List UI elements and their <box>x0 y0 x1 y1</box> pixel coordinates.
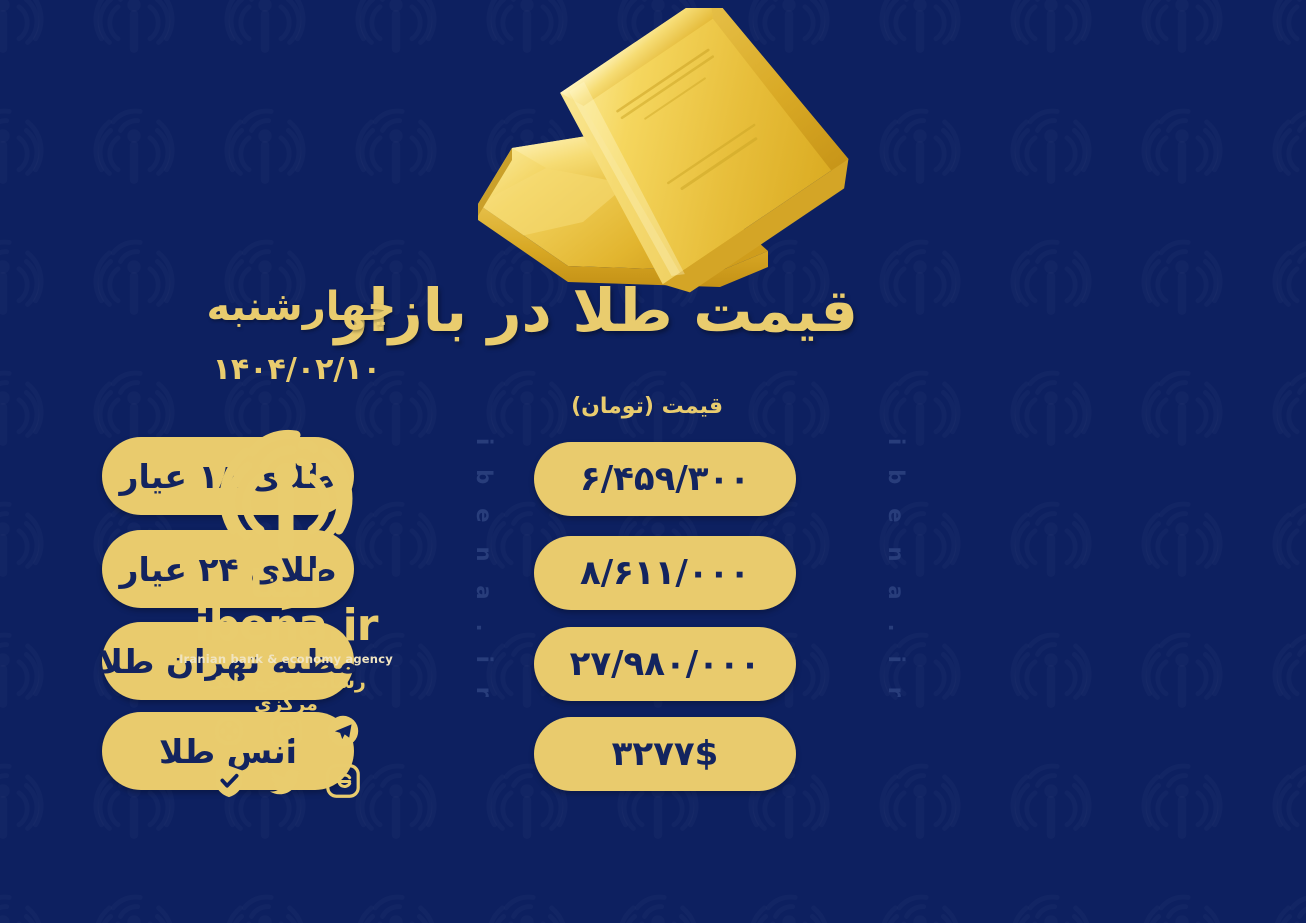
background-logo-watermark <box>1270 363 1306 449</box>
watermark-right: ibena.ir <box>884 438 908 721</box>
page-title: قیمت طلا در بازار <box>335 276 858 345</box>
date-label: ۱۴۰۴/۰۲/۱۰ <box>213 352 381 387</box>
infographic-canvas: قیمت طلا در بازار چهارشنبه ۱۴۰۴/۰۲/۱۰ قی… <box>0 0 1306 923</box>
background-logo-watermark <box>1008 756 1094 842</box>
background-logo-watermark <box>0 363 46 449</box>
background-logo-watermark <box>1270 101 1306 187</box>
brand-name-latin: ibena.ir <box>176 604 396 648</box>
background-logo-watermark <box>0 887 46 923</box>
background-logo-watermark <box>91 232 177 318</box>
twitter-icon[interactable] <box>267 762 305 800</box>
gold-bars-illustration <box>468 8 898 298</box>
price-value-row-2: ۸/۶۱۱/۰۰۰ <box>534 536 796 610</box>
background-logo-watermark <box>484 363 570 449</box>
background-logo-watermark <box>1008 0 1094 56</box>
aparat-icon[interactable] <box>210 712 248 750</box>
background-logo-watermark <box>877 363 963 449</box>
day-name: چهارشنبه <box>206 284 396 330</box>
price-value-row-1: ۶/۴۵۹/۳۰۰ <box>534 442 796 516</box>
background-logo-watermark <box>1008 625 1094 711</box>
background-logo-watermark <box>0 101 46 187</box>
background-logo-watermark <box>91 887 177 923</box>
background-logo-watermark <box>1139 887 1225 923</box>
brand-tagline-en: Iranian bank & economy agency <box>176 652 396 666</box>
background-logo-watermark <box>1139 363 1225 449</box>
background-logo-watermark <box>1270 494 1306 580</box>
telegram-icon[interactable] <box>324 712 362 750</box>
background-logo-watermark <box>1139 625 1225 711</box>
brand-block: ایبِنا ibena.ir Iranian bank & economy a… <box>176 418 396 715</box>
background-logo-watermark <box>1008 494 1094 580</box>
background-logo-watermark <box>353 0 439 56</box>
background-logo-watermark <box>746 887 832 923</box>
background-logo-watermark <box>0 232 46 318</box>
background-logo-watermark <box>222 887 308 923</box>
background-logo-watermark <box>1139 756 1225 842</box>
background-logo-watermark <box>91 0 177 56</box>
background-logo-watermark <box>1270 0 1306 56</box>
social-links <box>200 712 372 800</box>
background-logo-watermark <box>222 0 308 56</box>
background-logo-watermark <box>877 756 963 842</box>
background-logo-watermark <box>353 887 439 923</box>
brand-tagline-fa: رسانه مرجع بانک مرکزی <box>176 671 396 715</box>
background-logo-watermark <box>1139 232 1225 318</box>
background-logo-watermark <box>484 887 570 923</box>
instagram-icon[interactable] <box>267 712 305 750</box>
background-logo-watermark <box>615 887 701 923</box>
background-logo-watermark <box>1270 232 1306 318</box>
background-logo-watermark <box>0 0 46 56</box>
watermark-left: ibena.ir <box>472 438 496 721</box>
background-logo-watermark <box>877 887 963 923</box>
background-logo-watermark <box>746 363 832 449</box>
background-logo-watermark <box>1008 363 1094 449</box>
price-column-header: قیمت (تومان) <box>571 394 723 419</box>
background-logo-watermark <box>1139 101 1225 187</box>
ibena-broadcast-logo-icon <box>216 418 356 558</box>
eitaa-icon[interactable] <box>324 762 362 800</box>
background-logo-watermark <box>91 101 177 187</box>
background-logo-watermark <box>0 494 46 580</box>
background-logo-watermark <box>1008 887 1094 923</box>
background-logo-watermark <box>1270 756 1306 842</box>
background-logo-watermark <box>1139 494 1225 580</box>
background-logo-watermark <box>222 101 308 187</box>
background-logo-watermark <box>1270 625 1306 711</box>
background-logo-watermark <box>1008 232 1094 318</box>
background-logo-watermark <box>0 756 46 842</box>
background-logo-watermark <box>1270 887 1306 923</box>
background-logo-watermark <box>353 101 439 187</box>
price-value-row-4: ۳۲۷۷$ <box>534 717 796 791</box>
background-logo-watermark <box>0 625 46 711</box>
background-logo-watermark <box>1008 101 1094 187</box>
price-value-row-3: ۲۷/۹۸۰/۰۰۰ <box>534 627 796 701</box>
bale-icon[interactable] <box>210 762 248 800</box>
background-logo-watermark <box>1139 0 1225 56</box>
